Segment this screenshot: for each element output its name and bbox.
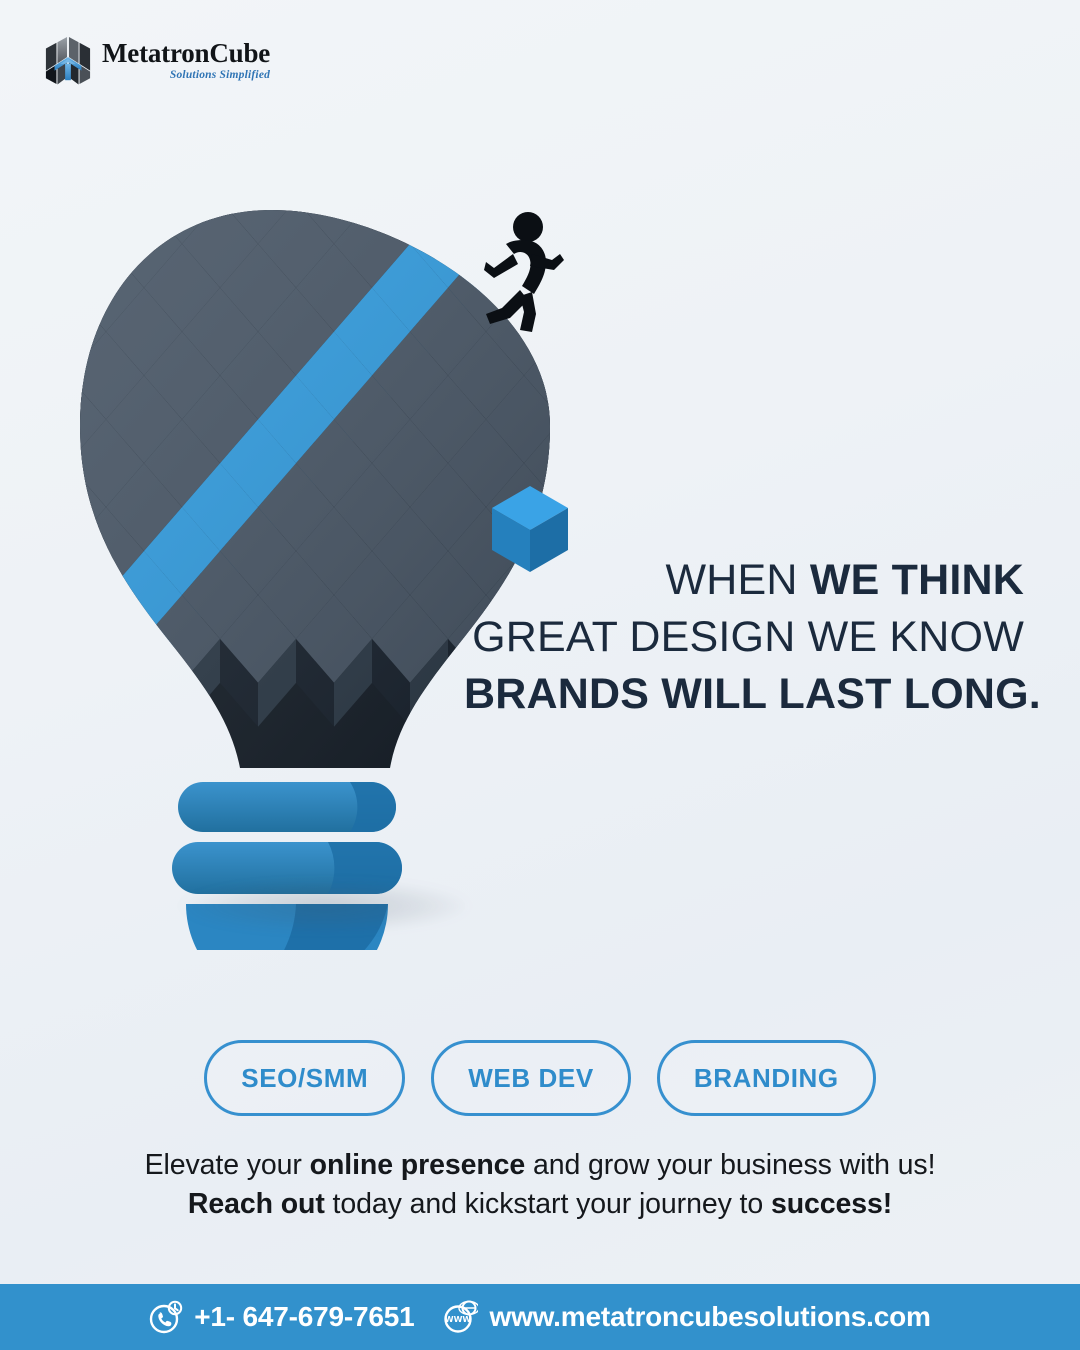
cta-line-1-a: Elevate your: [145, 1149, 310, 1181]
www-globe-icon: WWW: [444, 1300, 478, 1334]
headline-block: WHEN WE THINK GREAT DESIGN WE KNOW BRAND…: [464, 552, 1024, 722]
brand-logo[interactable]: MetatronCube Solutions Simplified: [44, 36, 270, 86]
svg-text:WWW: WWW: [445, 1315, 472, 1324]
pill-web-dev[interactable]: WEB DEV: [431, 1040, 631, 1116]
logo-tagline: Solutions Simplified: [102, 70, 270, 82]
footer-website-item[interactable]: WWW www.metatroncubesolutions.com: [444, 1300, 930, 1334]
bulb-drop-shadow: [180, 880, 470, 932]
headline-line-2: GREAT DESIGN WE KNOW: [464, 609, 1024, 666]
service-pills: SEO/SMM WEB DEV BRANDING: [0, 1040, 1080, 1116]
cta-text-block: Elevate your online presence and grow yo…: [0, 1146, 1080, 1225]
cta-line-2-b: today and kickstart your journey to: [325, 1188, 771, 1220]
running-person-silhouette-icon: [480, 210, 570, 335]
logo-brand-name: MetatronCube: [102, 40, 270, 67]
headline-line-1-plain: WHEN: [665, 556, 809, 604]
phone-circle-icon: [149, 1300, 183, 1334]
cta-line-1-bold: online presence: [310, 1149, 526, 1181]
pill-seo-smm[interactable]: SEO/SMM: [204, 1040, 405, 1116]
headline-line-3: BRANDS WILL LAST LONG.: [464, 666, 1024, 723]
logo-text-block: MetatronCube Solutions Simplified: [102, 40, 270, 82]
footer-phone-number: +1- 647-679-7651: [194, 1301, 414, 1333]
pill-branding[interactable]: BRANDING: [657, 1040, 876, 1116]
footer-website-url: www.metatroncubesolutions.com: [489, 1301, 930, 1333]
cta-line-2-bold-2: success!: [771, 1188, 892, 1220]
contact-footer-bar: +1- 647-679-7651 WWW www.metatroncubesol…: [0, 1284, 1080, 1350]
poster-canvas: MetatronCube Solutions Simplified: [0, 0, 1080, 1350]
cta-line-2-bold: Reach out: [188, 1188, 325, 1220]
footer-phone-item[interactable]: +1- 647-679-7651: [149, 1300, 414, 1334]
cta-line-1: Elevate your online presence and grow yo…: [0, 1146, 1080, 1185]
cta-line-2: Reach out today and kickstart your journ…: [0, 1185, 1080, 1224]
headline-line-1-bold: WE THINK: [810, 556, 1024, 604]
headline-line-1: WHEN WE THINK: [464, 552, 1024, 609]
isometric-cube-arrow-logo-icon: [44, 36, 92, 86]
cta-line-1-c: and grow your business with us!: [525, 1149, 935, 1181]
